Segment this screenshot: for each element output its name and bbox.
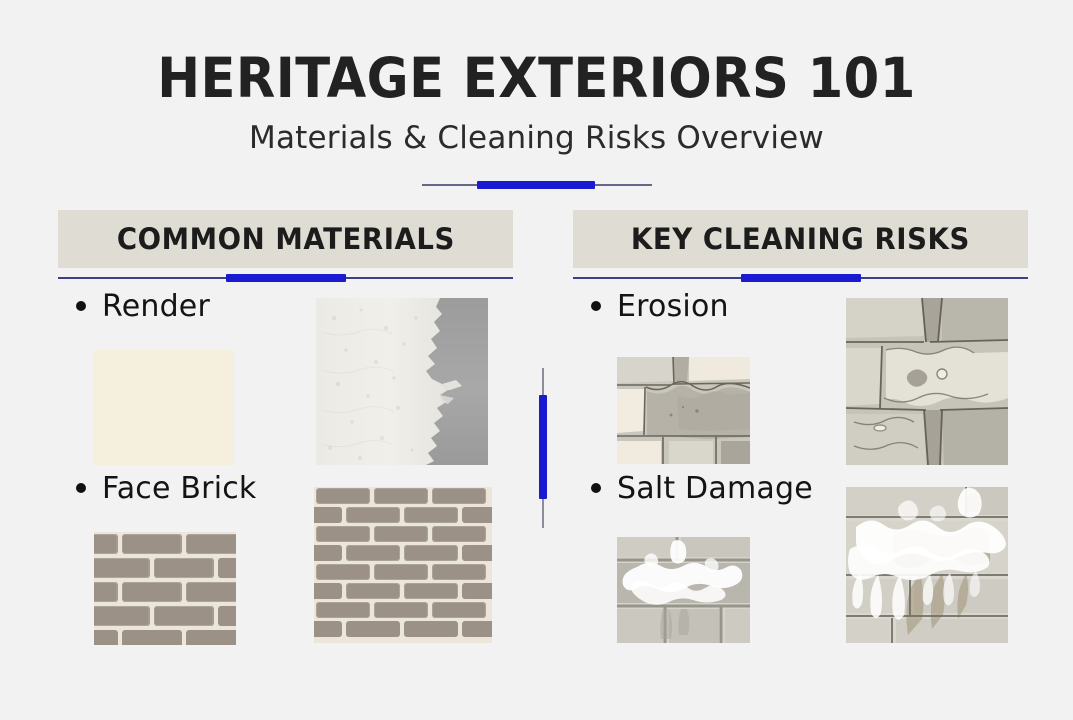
section-header-rule [573,273,1028,283]
section-title-text: COMMON MATERIALS [116,222,454,256]
salt-detail-swatch [617,537,750,643]
bullet-label: Face Brick [102,471,257,506]
center-vertical-divider [536,368,550,528]
rule-thick-bar [226,274,346,282]
eroded-stonework-svg [846,298,1008,465]
section-header-common-materials: COMMON MATERIALS [58,210,513,268]
face-brick-swatch-svg [94,532,236,645]
peeling-render-photo [316,298,488,465]
bullet-dot-icon [76,301,86,311]
page-header: HERITAGE EXTERIORS 101 Materials & Clean… [0,0,1073,192]
bullet-dot-icon [76,483,86,493]
page-subtitle: Materials & Cleaning Risks Overview [0,108,1073,156]
rule-thick-bar [741,274,861,282]
accent-thick-bar [477,181,595,189]
section-title-text: KEY CLEANING RISKS [631,222,970,256]
eroded-stonework-photo [846,298,1008,465]
bullet-label: Salt Damage [617,471,813,506]
erosion-detail-svg [617,357,750,464]
salt-efflorescence-photo [846,487,1008,643]
face-brick-swatch [94,532,236,645]
page-title: HERITAGE EXTERIORS 101 [38,0,1036,108]
face-brick-wall-photo [314,487,492,643]
face-brick-wall-svg [314,487,492,643]
salt-detail-svg [617,537,750,643]
salt-efflorescence-svg [846,487,1008,643]
section-header-key-cleaning-risks: KEY CLEANING RISKS [573,210,1028,268]
bullet-label: Render [102,289,210,324]
bullet-label: Erosion [617,289,729,324]
bullet-dot-icon [591,301,601,311]
divider-thick-bar [539,395,547,499]
bullet-dot-icon [591,483,601,493]
render-colour-swatch [94,350,234,465]
erosion-detail-swatch [617,357,750,464]
title-accent-divider [422,178,652,192]
section-header-rule [58,273,513,283]
peeling-render-svg [316,298,488,465]
